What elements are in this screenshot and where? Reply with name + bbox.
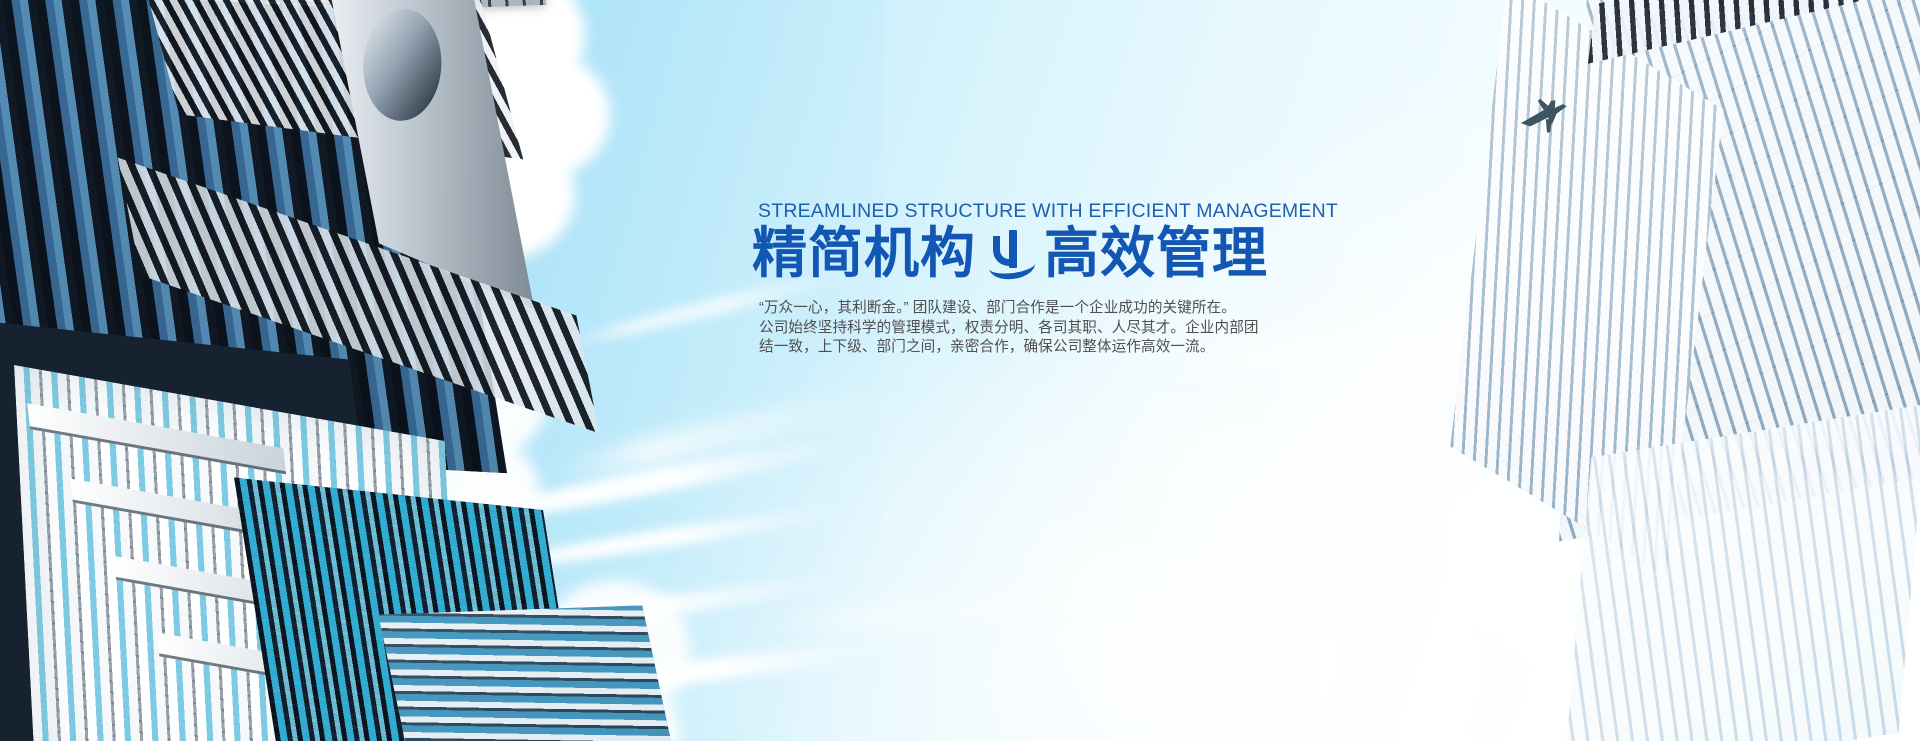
faint-tower-facade (1563, 404, 1920, 741)
company-emblem-icon (990, 228, 1034, 280)
hero-banner: STREAMLINED STRUCTURE WITH EFFICIENT MAN… (0, 0, 1920, 741)
paragraph-line-1: “万众一心，其利断金。” 团队建设、部门合作是一个企业成功的关键所在。 (759, 299, 1274, 318)
headline-right-text: 高效管理 (1044, 224, 1268, 283)
paragraph-line-2: 公司始终坚持科学的管理模式，权责分明、各司其职、人尽其才。企业内部团 (759, 319, 1274, 338)
hero-headline: 精简机构 高效管理 (752, 224, 1292, 283)
paragraph-line-3: 结一致，上下级、部门之间，亲密合作，确保公司整体运作高效一流。 (759, 338, 1274, 357)
building-bottom-right-faint-tower (1566, 416, 1920, 741)
hero-eyebrow-text: STREAMLINED STRUCTURE WITH EFFICIENT MAN… (758, 200, 1292, 223)
headline-left-text: 精简机构 (752, 224, 976, 283)
blue-slab-facade (378, 605, 681, 741)
hero-paragraph: “万众一心，其利断金。” 团队建设、部门合作是一个企业成功的关键所在。 公司始终… (759, 299, 1274, 357)
hero-copy-block: STREAMLINED STRUCTURE WITH EFFICIENT MAN… (752, 200, 1292, 358)
emblem-swoosh (988, 250, 1037, 281)
